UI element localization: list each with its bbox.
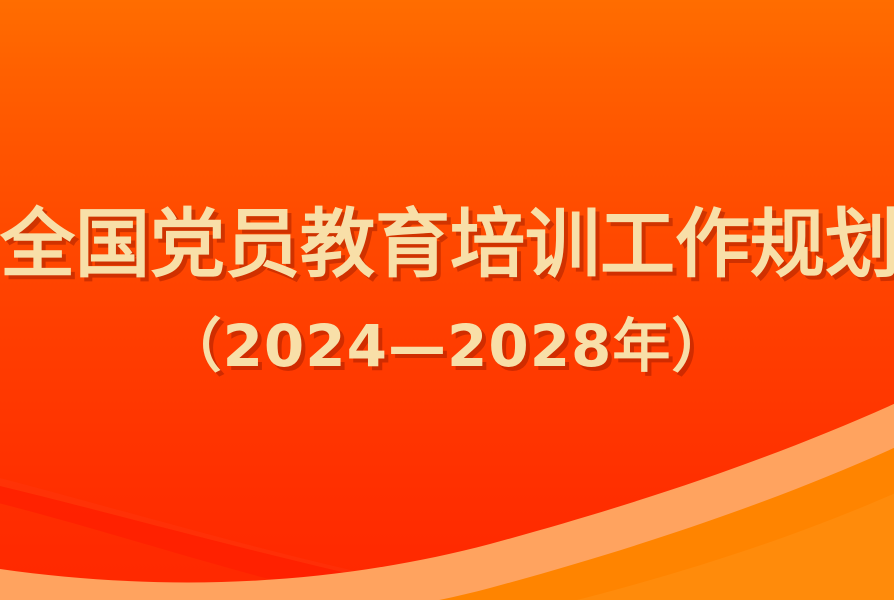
page-subtitle: （2024—2028年） [0, 310, 894, 382]
title-block: 全国党员教育培训工作规划 （2024—2028年） [0, 0, 894, 600]
page-title: 全国党员教育培训工作规划 [0, 199, 894, 289]
poster-banner: 全国党员教育培训工作规划 （2024—2028年） [0, 0, 894, 600]
